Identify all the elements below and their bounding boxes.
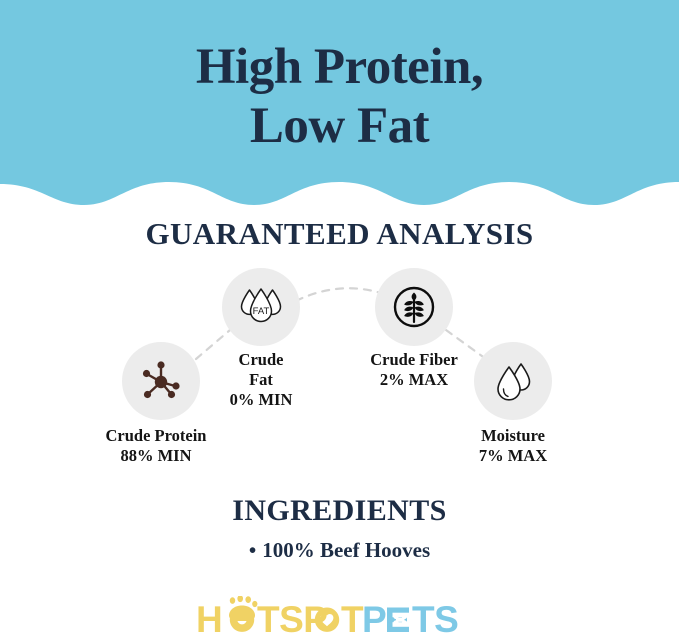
wheat-stalk-icon: [391, 284, 437, 330]
ingredient-item: •100% Beef Hooves: [0, 538, 679, 563]
svg-text:T: T: [341, 599, 364, 636]
fat-icon-text: FAT: [253, 306, 270, 317]
svg-text:TS: TS: [412, 599, 458, 636]
fat-badge: FAT: [222, 268, 300, 346]
ingredient-text: 100% Beef Hooves: [262, 538, 430, 562]
bullet-icon: •: [249, 538, 256, 563]
svg-text:P: P: [362, 599, 386, 636]
logo-text-pets: P TS: [362, 599, 458, 636]
fiber-badge: [375, 268, 453, 346]
logo-text-hotspot: H TSP T: [196, 599, 364, 636]
guaranteed-analysis-diagram: Crude Protein 88% MIN FAT Crude Fat 0% M…: [0, 262, 679, 482]
water-droplets-icon: [490, 358, 536, 404]
brand-logo: H TSP T P: [0, 596, 679, 636]
infographic-root: High Protein, Low Fat GUARANTEED ANALYSI…: [0, 0, 679, 636]
fat-droplets-icon: FAT: [237, 283, 285, 331]
ingredients-heading: INGREDIENTS: [0, 494, 679, 528]
moisture-label: Moisture 7% MAX: [413, 426, 613, 466]
hero-title: High Protein, Low Fat: [0, 38, 679, 156]
hotspotpets-logo: H TSP T P: [190, 596, 490, 636]
guaranteed-analysis-heading: GUARANTEED ANALYSIS: [0, 216, 679, 252]
svg-text:H: H: [196, 599, 222, 636]
moisture-badge: [474, 342, 552, 420]
hero-banner: High Protein, Low Fat: [0, 0, 679, 206]
protein-label: Crude Protein 88% MIN: [56, 426, 256, 466]
